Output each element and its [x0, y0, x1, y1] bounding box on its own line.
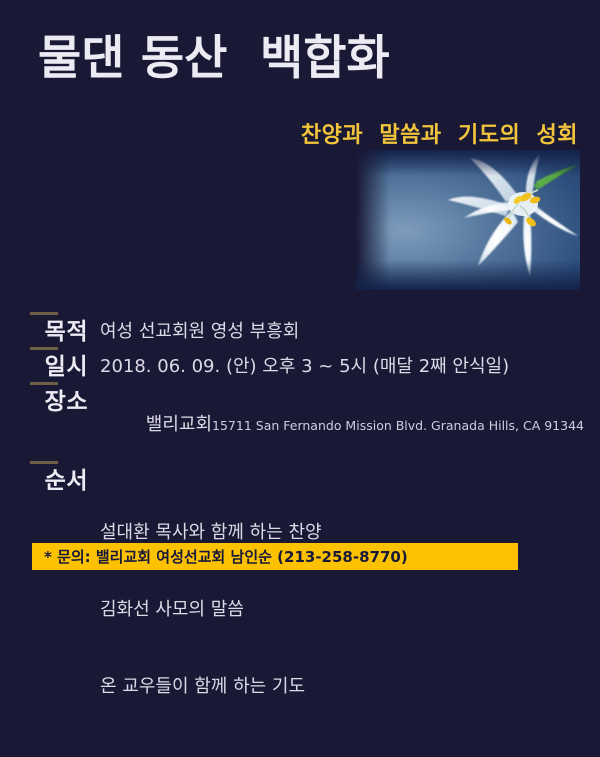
detail-label-datetime: 일시: [30, 353, 88, 381]
panel-bottom-fade: [356, 260, 580, 290]
detail-label-location: 장소: [30, 388, 88, 416]
event-poster: 물댄 동산 백합화 찬양과 말씀과 기도의 성회: [0, 0, 600, 600]
detail-label-wrap: 순서: [30, 467, 88, 495]
venue-name: 밸리교회: [146, 414, 212, 435]
detail-label-wrap: 목적: [30, 318, 88, 346]
detail-value-location: 밸리교회15711 San Fernando Mission Blvd. Gra…: [100, 388, 584, 460]
detail-row-program: 순서 설대환 목사와 함께 하는 찬양 김화선 사모의 말씀 온 교우들이 함께…: [30, 467, 575, 750]
lily-image-panel: [356, 150, 580, 290]
program-line: 온 교우들이 함께 하는 기도: [100, 674, 322, 700]
venue-address: 15711 San Fernando Mission Blvd. Granada…: [212, 418, 584, 433]
detail-label-purpose: 목적: [30, 318, 88, 346]
detail-value-program: 설대환 목사와 함께 하는 찬양 김화선 사모의 말씀 온 교우들이 함께 하는…: [100, 467, 322, 750]
contact-banner: * 문의: 밸리교회 여성선교회 남인순 (213-258-8770): [32, 543, 518, 570]
detail-row-purpose: 목적 여성 선교회원 영성 부흥회: [30, 318, 575, 346]
label-tick-mark: [30, 347, 58, 350]
detail-value-purpose: 여성 선교회원 영성 부흥회: [100, 318, 299, 343]
poster-subtitle: 찬양과 말씀과 기도의 성회: [301, 117, 578, 149]
detail-label-program: 순서: [30, 467, 88, 495]
label-tick-mark: [30, 382, 58, 385]
program-line: 김화선 사모의 말씀: [100, 597, 322, 623]
page-title: 물댄 동산 백합화: [38, 34, 390, 83]
detail-label-wrap: 일시: [30, 353, 88, 381]
detail-row-location: 장소 밸리교회15711 San Fernando Mission Blvd. …: [30, 388, 575, 460]
contact-text: * 문의: 밸리교회 여성선교회 남인순 (213-258-8770): [32, 546, 408, 567]
detail-label-wrap: 장소: [30, 388, 88, 416]
label-tick-mark: [30, 312, 58, 315]
label-tick-mark: [30, 461, 58, 464]
event-details: 목적 여성 선교회원 영성 부흥회 일시 2018. 06. 09. (안) 오…: [30, 318, 575, 757]
detail-value-datetime: 2018. 06. 09. (안) 오후 3 ~ 5시 (매달 2째 안식일): [100, 353, 509, 378]
detail-row-datetime: 일시 2018. 06. 09. (안) 오후 3 ~ 5시 (매달 2째 안식…: [30, 353, 575, 381]
